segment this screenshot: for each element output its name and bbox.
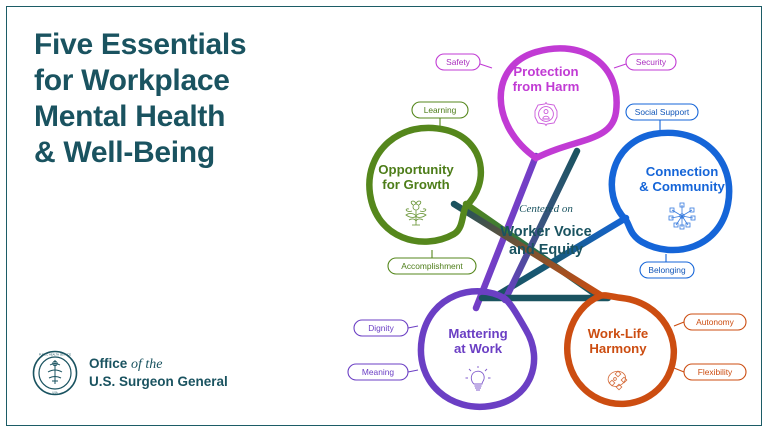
pill-security-label: Security	[636, 57, 667, 67]
essential-work-life-harmony[interactable]: Work-Life Harmony Autonomy Flexibility	[567, 295, 746, 404]
page-title: Five Essentials for Workplace Mental Hea…	[34, 27, 334, 171]
badge-person-icon	[535, 103, 557, 126]
pill-social-support-label: Social Support	[635, 107, 690, 117]
pill-autonomy-label: Autonomy	[696, 317, 735, 327]
pill-security[interactable]: Security	[614, 54, 676, 70]
lightbulb-icon	[466, 366, 491, 390]
pill-meaning-label: Meaning	[362, 367, 394, 377]
pill-security-connector	[614, 64, 626, 68]
pill-dignity-connector	[408, 326, 418, 328]
pill-social-support[interactable]: Social Support	[626, 104, 698, 130]
plant-flower-icon	[406, 201, 426, 225]
worklife-title-line1: Work-Life	[588, 326, 649, 341]
connection-title-line2: & Community	[639, 179, 725, 194]
pill-safety-connector	[480, 64, 492, 68]
five-essentials-diagram: Protection from Harm Safety Security	[330, 8, 762, 426]
title-line-2: for Workplace	[34, 63, 334, 99]
center-line-2: and Equity	[509, 242, 583, 258]
protection-from-harm-title-line1: Protection	[513, 64, 578, 79]
pill-dignity[interactable]: Dignity	[354, 320, 418, 336]
logo-line2: U.S. Surgeon General	[89, 374, 228, 390]
pill-accomplishment[interactable]: Accomplishment	[388, 250, 476, 274]
logo-line1-italic: of the	[131, 357, 163, 372]
pill-flexibility-connector	[674, 368, 684, 372]
svg-text:PUBLIC HEALTH SERVICE: PUBLIC HEALTH SERVICE	[39, 353, 71, 357]
essential-connection-and-community[interactable]: Connection & Community Social Support	[612, 104, 729, 278]
infographic-canvas: Five Essentials for Workplace Mental Hea…	[0, 0, 768, 432]
growth-title-line1: Opportunity	[378, 162, 454, 177]
pill-belonging[interactable]: Belonging	[640, 254, 694, 278]
essential-mattering-at-work[interactable]: Mattering at Work Dignity Meaning	[348, 291, 534, 407]
mattering-title-line2: at Work	[454, 341, 503, 356]
pill-learning-label: Learning	[424, 105, 457, 115]
pill-flexibility-label: Flexibility	[698, 367, 733, 377]
title-line-4: & Well-Being	[34, 135, 334, 171]
growth-title-line2: for Growth	[382, 177, 449, 192]
pill-meaning-connector	[408, 370, 418, 372]
logo-line1: Office	[89, 356, 127, 371]
pill-safety-label: Safety	[446, 57, 471, 67]
pill-accomplishment-label: Accomplishment	[401, 261, 463, 271]
protection-from-harm-title-line2: from Harm	[513, 79, 580, 94]
pill-meaning[interactable]: Meaning	[348, 364, 418, 380]
svg-text:USA: USA	[52, 391, 58, 395]
center-line-1: Worker Voice	[500, 224, 591, 240]
network-nodes-icon	[669, 203, 695, 229]
connection-title-line1: Connection	[646, 164, 719, 179]
essential-opportunity-for-growth[interactable]: Opportunity for Growth Learning Accompli…	[369, 102, 481, 274]
title-line-1: Five Essentials	[34, 27, 334, 63]
worklife-title-line2: Harmony	[589, 341, 647, 356]
surgeon-general-logo: PUBLIC HEALTH SERVICE USA Office of the …	[32, 350, 228, 396]
pill-learning[interactable]: Learning	[412, 102, 468, 126]
pill-dignity-label: Dignity	[368, 323, 394, 333]
mattering-title-line1: Mattering	[448, 326, 507, 341]
pill-autonomy[interactable]: Autonomy	[674, 314, 746, 330]
center-eyebrow: Centered on	[519, 203, 573, 215]
pill-autonomy-connector	[674, 322, 684, 326]
logo-text: Office of the U.S. Surgeon General	[89, 356, 228, 389]
pill-safety[interactable]: Safety	[436, 54, 492, 70]
title-line-3: Mental Health	[34, 99, 334, 135]
balance-molecule-icon	[608, 371, 627, 390]
pill-belonging-label: Belonging	[648, 265, 686, 275]
pill-flexibility[interactable]: Flexibility	[674, 364, 746, 380]
us-public-health-service-seal-icon: PUBLIC HEALTH SERVICE USA	[32, 350, 78, 396]
